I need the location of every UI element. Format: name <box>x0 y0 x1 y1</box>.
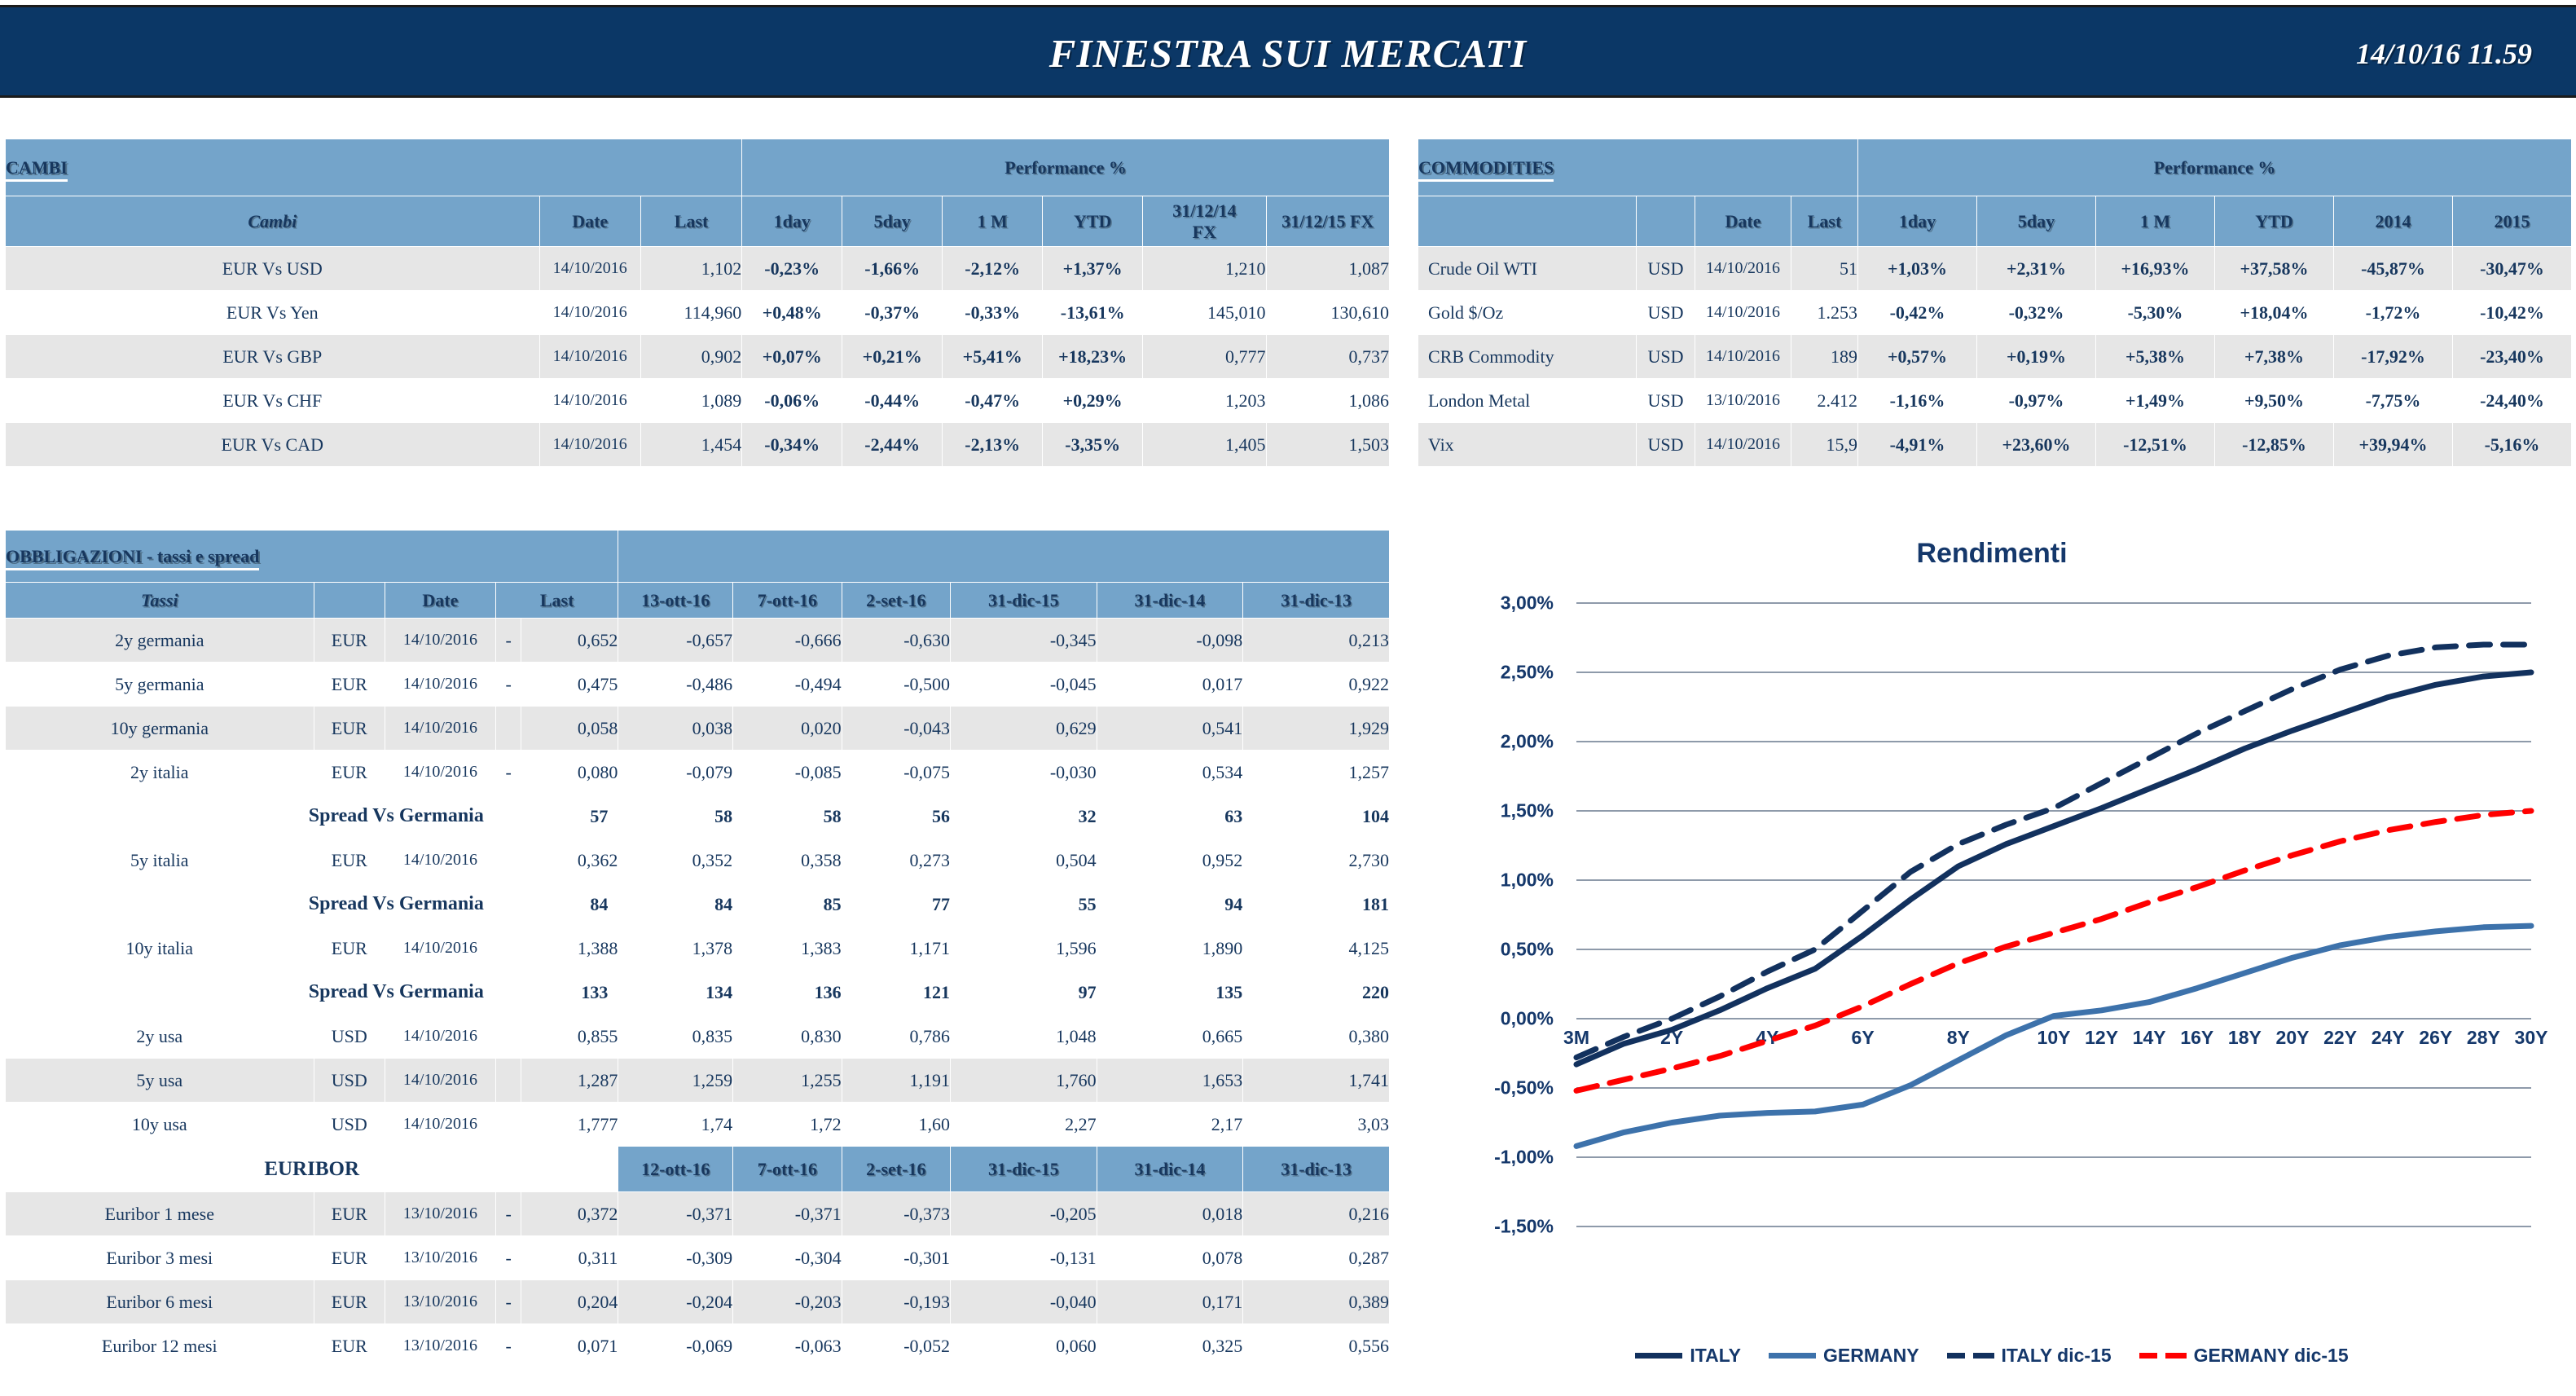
spread-cell-c3: 56 <box>842 795 950 839</box>
commodities-cell-ytd: +18,04% <box>2215 291 2334 335</box>
legend-label: GERMANY <box>1823 1345 1919 1367</box>
obbligazioni-cell-c5: 0,017 <box>1097 663 1243 707</box>
cambi-cell-1m: -0,33% <box>943 291 1043 335</box>
commodities-cell-1m: -5,30% <box>2096 291 2215 335</box>
obbligazioni-cell-c1: 1,378 <box>618 927 733 971</box>
commodities-cell-ytd: +9,50% <box>2215 379 2334 423</box>
obbligazioni-cell-ccy: EUR <box>314 839 385 883</box>
cambi-cell-date: 14/10/2016 <box>539 379 640 423</box>
cambi-cell-date: 14/10/2016 <box>539 291 640 335</box>
table-row: CRB CommodityUSD14/10/2016189+0,57%+0,19… <box>1418 335 2572 379</box>
obbligazioni-cell-last: 0,855 <box>521 1015 618 1059</box>
commodities-cell-1day: -4,91% <box>1858 423 1977 467</box>
table-row: Euribor 6 mesiEUR13/10/2016-0,204-0,204-… <box>6 1280 1390 1324</box>
commodities-cell-last: 189 <box>1791 335 1858 379</box>
obbligazioni-col-c3: 2-set-16 <box>842 583 950 619</box>
cambi-cell-5day: -0,37% <box>842 291 943 335</box>
obbligazioni-cell-c3: 1,60 <box>842 1103 950 1147</box>
euribor-cell-ccy: EUR <box>314 1236 385 1280</box>
cambi-cell-1day: -0,34% <box>742 423 842 467</box>
cambi-cell-1day: +0,07% <box>742 335 842 379</box>
table-row: London MetalUSD13/10/20162.412-1,16%-0,9… <box>1418 379 2572 423</box>
commodities-cell-2015: -30,47% <box>2453 247 2572 291</box>
spread-cell-last: 84 <box>495 883 618 927</box>
euribor-col-c1: 12-ott-16 <box>618 1147 733 1192</box>
commodities-row-name: Vix <box>1418 423 1637 467</box>
cambi-cell-1day: -0,06% <box>742 379 842 423</box>
chart-plot-area <box>1413 522 2570 1389</box>
obbligazioni-cell-c5: 0,541 <box>1097 707 1243 751</box>
obbligazioni-cell-c2: -0,494 <box>733 663 842 707</box>
obbligazioni-cell-c3: 1,191 <box>842 1059 950 1103</box>
legend-label: ITALY dic-15 <box>2002 1345 2112 1367</box>
obbligazioni-cell-date: 14/10/2016 <box>385 619 495 663</box>
obbligazioni-cell-c6: 0,213 <box>1243 619 1390 663</box>
commodities-title: COMMODITIES <box>1418 139 1858 196</box>
obbligazioni-row-name: 5y usa <box>6 1059 314 1103</box>
commodities-cell-1m: +5,38% <box>2096 335 2215 379</box>
obbligazioni-cell-last: 1,287 <box>521 1059 618 1103</box>
cambi-cell-1m: +5,41% <box>943 335 1043 379</box>
commodities-cell-5day: -0,97% <box>1977 379 2096 423</box>
series-germany-dic-15 <box>1576 811 2531 1090</box>
table-row: Euribor 1 meseEUR13/10/2016-0,372-0,371-… <box>6 1192 1390 1236</box>
cambi-cell-last: 1,089 <box>640 379 741 423</box>
cambi-cell-last: 0,902 <box>640 335 741 379</box>
obbligazioni-cell-c1: -0,079 <box>618 751 733 795</box>
cambi-row-name: EUR Vs CAD <box>6 423 540 467</box>
table-row: EUR Vs Yen14/10/2016114,960+0,48%-0,37%-… <box>6 291 1390 335</box>
euribor-cell-ccy: EUR <box>314 1192 385 1236</box>
euribor-cell-c1: -0,069 <box>618 1324 733 1368</box>
obbligazioni-cell-c6: 0,922 <box>1243 663 1390 707</box>
commodities-cell-2015: -10,42% <box>2453 291 2572 335</box>
euribor-cell-c5: 0,171 <box>1097 1280 1243 1324</box>
obbligazioni-cell-c4: 1,760 <box>951 1059 1097 1103</box>
obbligazioni-cell-c6: 1,741 <box>1243 1059 1390 1103</box>
euribor-cell-c1: -0,371 <box>618 1192 733 1236</box>
cambi-table: CAMBIPerformance %CambiDateLast1day5day1… <box>5 139 1390 467</box>
table-row: VixUSD14/10/201615,9-4,91%+23,60%-12,51%… <box>1418 423 2572 467</box>
table-row: Spread Vs Germania13313413612197135220 <box>6 971 1390 1015</box>
commodities-cell-2014: -17,92% <box>2334 335 2453 379</box>
obbligazioni-cell-c2: 0,358 <box>733 839 842 883</box>
obbligazioni-cell-c6: 1,257 <box>1243 751 1390 795</box>
spread-cell-last: 133 <box>495 971 618 1015</box>
commodities-col-2014: 2014 <box>2334 196 2453 247</box>
obbligazioni-cell-c5: -0,098 <box>1097 619 1243 663</box>
obbligazioni-cell-date: 14/10/2016 <box>385 839 495 883</box>
cambi-col-fx14: 31/12/14FX <box>1143 196 1266 247</box>
cambi-cell-1m: -2,12% <box>943 247 1043 291</box>
commodities-cell-last: 2.412 <box>1791 379 1858 423</box>
obbligazioni-col-c5: 31-dic-14 <box>1097 583 1243 619</box>
spread-cell-c5: 94 <box>1097 883 1243 927</box>
obbligazioni-cell-last: 0,058 <box>521 707 618 751</box>
euribor-cell-last: 0,372 <box>521 1192 618 1236</box>
commodities-cell-ytd: +7,38% <box>2215 335 2334 379</box>
cambi-col-1day: 1day <box>742 196 842 247</box>
table-row: EUR Vs USD14/10/20161,102-0,23%-1,66%-2,… <box>6 247 1390 291</box>
obbligazioni-cell-c4: 1,596 <box>951 927 1097 971</box>
obbligazioni-row-name: 2y germania <box>6 619 314 663</box>
obbligazioni-col-tassi: Tassi <box>6 583 314 619</box>
series-italy <box>1576 672 2531 1064</box>
cambi-col-last: Last <box>640 196 741 247</box>
legend-item: ITALY dic-15 <box>1947 1345 2112 1367</box>
obbligazioni-cell-date: 14/10/2016 <box>385 1015 495 1059</box>
euribor-col-c6: 31-dic-13 <box>1243 1147 1390 1192</box>
table-row: Euribor 12 mesiEUR13/10/2016-0,071-0,069… <box>6 1324 1390 1368</box>
commodities-col-date: Date <box>1695 196 1791 247</box>
commodities-col-1day: 1day <box>1858 196 1977 247</box>
commodities-cell-1m: -12,51% <box>2096 423 2215 467</box>
commodities-col-name <box>1418 196 1637 247</box>
obbligazioni-cell-c2: 1,255 <box>733 1059 842 1103</box>
obbligazioni-cell-c4: 0,629 <box>951 707 1097 751</box>
euribor-cell-c1: -0,204 <box>618 1280 733 1324</box>
spread-cell-c2: 136 <box>733 971 842 1015</box>
obbligazioni-cell-c5: 0,534 <box>1097 751 1243 795</box>
legend-item: GERMANY dic-15 <box>2139 1345 2349 1367</box>
obbligazioni-cell-c6: 2,730 <box>1243 839 1390 883</box>
obbligazioni-col-c1: 13-ott-16 <box>618 583 733 619</box>
commodities-cell-5day: +23,60% <box>1977 423 2096 467</box>
euribor-cell-c5: 0,018 <box>1097 1192 1243 1236</box>
commodities-row-name: Crude Oil WTI <box>1418 247 1637 291</box>
obbligazioni-cell-c3: 1,171 <box>842 927 950 971</box>
legend-swatch-icon <box>2139 1353 2187 1359</box>
commodities-cell-date: 14/10/2016 <box>1695 291 1791 335</box>
obbligazioni-cell-c5: 0,952 <box>1097 839 1243 883</box>
cambi-row-name: EUR Vs USD <box>6 247 540 291</box>
euribor-cell-c3: -0,373 <box>842 1192 950 1236</box>
cambi-cell-fx14: 145,010 <box>1143 291 1266 335</box>
cambi-cell-fx15: 1,086 <box>1266 379 1389 423</box>
cambi-cell-ytd: +0,29% <box>1043 379 1143 423</box>
commodities-cell-2014: -7,75% <box>2334 379 2453 423</box>
euribor-cell-c2: -0,304 <box>733 1236 842 1280</box>
euribor-cell-date: 13/10/2016 <box>385 1236 495 1280</box>
obbligazioni-col-ccy <box>314 583 385 619</box>
obbligazioni-cell-ccy: EUR <box>314 707 385 751</box>
obbligazioni-cell-c1: 0,352 <box>618 839 733 883</box>
commodities-col-5day: 5day <box>1977 196 2096 247</box>
obbligazioni-cell-date: 14/10/2016 <box>385 1103 495 1147</box>
euribor-cell-c6: 0,216 <box>1243 1192 1390 1236</box>
obbligazioni-cell-last: 1,777 <box>521 1103 618 1147</box>
cambi-performance-header: Performance % <box>742 139 1390 196</box>
obbligazioni-col-date: Date <box>385 583 495 619</box>
commodities-cell-last: 15,9 <box>1791 423 1858 467</box>
legend-item: GERMANY <box>1769 1345 1919 1367</box>
spread-cell-c6: 220 <box>1243 971 1390 1015</box>
commodities-cell-ccy: USD <box>1637 379 1695 423</box>
obbligazioni-cell-c6: 1,929 <box>1243 707 1390 751</box>
commodities-cell-1day: -1,16% <box>1858 379 1977 423</box>
cambi-cell-5day: -2,44% <box>842 423 943 467</box>
cambi-col-name: Cambi <box>6 196 540 247</box>
cambi-col-1m: 1 M <box>943 196 1043 247</box>
cambi-cell-ytd: -13,61% <box>1043 291 1143 335</box>
commodities-cell-1day: +0,57% <box>1858 335 1977 379</box>
obbligazioni-cell-c3: 0,273 <box>842 839 950 883</box>
obbligazioni-title: OBBLIGAZIONI - tassi e spread <box>6 531 618 583</box>
cambi-cell-ytd: +18,23% <box>1043 335 1143 379</box>
header-timestamp: 14/10/16 11.59 <box>2356 7 2532 100</box>
obbligazioni-cell-c4: 2,27 <box>951 1103 1097 1147</box>
cambi-cell-1day: -0,23% <box>742 247 842 291</box>
cambi-col-fx15: 31/12/15 FX <box>1266 196 1389 247</box>
commodities-cell-5day: -0,32% <box>1977 291 2096 335</box>
obbligazioni-cell-c5: 2,17 <box>1097 1103 1243 1147</box>
euribor-cell-c3: -0,193 <box>842 1280 950 1324</box>
obbligazioni-col-c6: 31-dic-13 <box>1243 583 1390 619</box>
commodities-cell-2014: +39,94% <box>2334 423 2453 467</box>
euribor-cell-c4: -0,040 <box>951 1280 1097 1324</box>
cambi-cell-fx14: 1,210 <box>1143 247 1266 291</box>
obbligazioni-cell-date: 14/10/2016 <box>385 751 495 795</box>
euribor-cell-ccy: EUR <box>314 1280 385 1324</box>
cambi-row-name: EUR Vs Yen <box>6 291 540 335</box>
commodities-cell-ytd: +37,58% <box>2215 247 2334 291</box>
euribor-col-c3: 2-set-16 <box>842 1147 950 1192</box>
obbligazioni-cell-c3: -0,630 <box>842 619 950 663</box>
spread-cell-c3: 77 <box>842 883 950 927</box>
obbligazioni-cell-sign: - <box>495 751 521 795</box>
obbligazioni-cell-c2: 1,383 <box>733 927 842 971</box>
euribor-title: EURIBOR <box>6 1147 618 1192</box>
cambi-cell-1m: -2,13% <box>943 423 1043 467</box>
cambi-cell-date: 14/10/2016 <box>539 423 640 467</box>
euribor-cell-date: 13/10/2016 <box>385 1280 495 1324</box>
commodities-col-last: Last <box>1791 196 1858 247</box>
obbligazioni-cell-sign: - <box>495 663 521 707</box>
commodities-cell-ccy: USD <box>1637 291 1695 335</box>
obbligazioni-cell-c4: -0,030 <box>951 751 1097 795</box>
commodities-cell-date: 14/10/2016 <box>1695 335 1791 379</box>
euribor-cell-last: 0,071 <box>521 1324 618 1368</box>
euribor-cell-c6: 0,287 <box>1243 1236 1390 1280</box>
obbligazioni-row-name: 5y germania <box>6 663 314 707</box>
obbligazioni-cell-c6: 3,03 <box>1243 1103 1390 1147</box>
obbligazioni-cell-c3: -0,075 <box>842 751 950 795</box>
commodities-cell-ccy: USD <box>1637 247 1695 291</box>
table-row: Euribor 3 mesiEUR13/10/2016-0,311-0,309-… <box>6 1236 1390 1280</box>
table-row: EUR Vs CAD14/10/20161,454-0,34%-2,44%-2,… <box>6 423 1390 467</box>
commodities-cell-date: 14/10/2016 <box>1695 423 1791 467</box>
legend-swatch-icon <box>1947 1353 1994 1359</box>
obbligazioni-cell-sign <box>495 839 521 883</box>
obbligazioni-cell-last: 0,475 <box>521 663 618 707</box>
obbligazioni-row-name: 2y usa <box>6 1015 314 1059</box>
cambi-cell-fx15: 1,503 <box>1266 423 1389 467</box>
obbligazioni-cell-last: 1,388 <box>521 927 618 971</box>
table-row: 2y germaniaEUR14/10/2016-0,652-0,657-0,6… <box>6 619 1390 663</box>
cambi-cell-5day: +0,21% <box>842 335 943 379</box>
obbligazioni-cell-c2: -0,085 <box>733 751 842 795</box>
euribor-col-c2: 7-ott-16 <box>733 1147 842 1192</box>
obbligazioni-col-last: Last <box>495 583 618 619</box>
commodities-cell-last: 1.253 <box>1791 291 1858 335</box>
legend-label: GERMANY dic-15 <box>2194 1345 2349 1367</box>
obbligazioni-cell-c1: 0,835 <box>618 1015 733 1059</box>
obbligazioni-cell-c2: 0,830 <box>733 1015 842 1059</box>
cambi-cell-fx14: 1,405 <box>1143 423 1266 467</box>
euribor-cell-c2: -0,063 <box>733 1324 842 1368</box>
obbligazioni-row-name: 10y usa <box>6 1103 314 1147</box>
obbligazioni-cell-date: 14/10/2016 <box>385 927 495 971</box>
obbligazioni-col-c4: 31-dic-15 <box>951 583 1097 619</box>
table-row: 5y usaUSD14/10/20161,2871,2591,2551,1911… <box>6 1059 1390 1103</box>
obbligazioni-table: OBBLIGAZIONI - tassi e spreadTassiDateLa… <box>5 530 1390 1368</box>
cambi-cell-fx15: 130,610 <box>1266 291 1389 335</box>
obbligazioni-cell-c2: -0,666 <box>733 619 842 663</box>
cambi-row-name: EUR Vs GBP <box>6 335 540 379</box>
obbligazioni-cell-c3: -0,500 <box>842 663 950 707</box>
spread-cell-c1: 134 <box>618 971 733 1015</box>
commodities-cell-1day: +1,03% <box>1858 247 1977 291</box>
commodities-table: COMMODITIESPerformance %DateLast1day5day… <box>1418 139 2572 467</box>
table-row: 5y italiaEUR14/10/20160,3620,3520,3580,2… <box>6 839 1390 883</box>
euribor-cell-c3: -0,052 <box>842 1324 950 1368</box>
obbligazioni-row-name: 2y italia <box>6 751 314 795</box>
spread-row-label: Spread Vs Germania <box>6 795 496 839</box>
obbligazioni-cell-ccy: USD <box>314 1103 385 1147</box>
cambi-cell-date: 14/10/2016 <box>539 335 640 379</box>
obbligazioni-cell-sign: - <box>495 619 521 663</box>
obbligazioni-cell-c1: 1,74 <box>618 1103 733 1147</box>
cambi-title: CAMBI <box>6 139 742 196</box>
euribor-cell-date: 13/10/2016 <box>385 1324 495 1368</box>
euribor-row-name: Euribor 3 mesi <box>6 1236 314 1280</box>
obbligazioni-cell-date: 14/10/2016 <box>385 663 495 707</box>
obbligazioni-cell-c6: 0,380 <box>1243 1015 1390 1059</box>
rendimenti-chart: Rendimenti 3,00%2,50%2,00%1,50%1,00%0,50… <box>1413 522 2570 1389</box>
obbligazioni-cell-c1: -0,486 <box>618 663 733 707</box>
obbligazioni-title-filler <box>618 531 1390 583</box>
cambi-cell-1day: +0,48% <box>742 291 842 335</box>
cambi-cell-fx15: 0,737 <box>1266 335 1389 379</box>
euribor-cell-c4: -0,205 <box>951 1192 1097 1236</box>
euribor-cell-sign: - <box>495 1324 521 1368</box>
obbligazioni-col-c2: 7-ott-16 <box>733 583 842 619</box>
commodities-cell-5day: +0,19% <box>1977 335 2096 379</box>
obbligazioni-cell-sign <box>495 707 521 751</box>
obbligazioni-cell-date: 14/10/2016 <box>385 1059 495 1103</box>
cambi-cell-fx14: 0,777 <box>1143 335 1266 379</box>
obbligazioni-cell-date: 14/10/2016 <box>385 707 495 751</box>
commodities-col-1m: 1 M <box>2096 196 2215 247</box>
spread-cell-c4: 55 <box>951 883 1097 927</box>
euribor-row-name: Euribor 12 mesi <box>6 1324 314 1368</box>
spread-cell-c2: 58 <box>733 795 842 839</box>
cambi-cell-last: 1,454 <box>640 423 741 467</box>
commodities-cell-1m: +1,49% <box>2096 379 2215 423</box>
obbligazioni-cell-sign <box>495 1059 521 1103</box>
spread-cell-c5: 135 <box>1097 971 1243 1015</box>
commodities-cell-ccy: USD <box>1637 335 1695 379</box>
obbligazioni-cell-c5: 1,890 <box>1097 927 1243 971</box>
commodities-col-ytd: YTD <box>2215 196 2334 247</box>
euribor-row-name: Euribor 6 mesi <box>6 1280 314 1324</box>
spread-cell-c2: 85 <box>733 883 842 927</box>
euribor-cell-c4: 0,060 <box>951 1324 1097 1368</box>
obbligazioni-cell-c2: 0,020 <box>733 707 842 751</box>
spread-cell-c4: 32 <box>951 795 1097 839</box>
spread-row-label: Spread Vs Germania <box>6 883 496 927</box>
obbligazioni-cell-c6: 4,125 <box>1243 927 1390 971</box>
obbligazioni-cell-c5: 1,653 <box>1097 1059 1243 1103</box>
euribor-cell-ccy: EUR <box>314 1324 385 1368</box>
obbligazioni-cell-sign <box>495 1015 521 1059</box>
euribor-cell-last: 0,204 <box>521 1280 618 1324</box>
cambi-cell-fx14: 1,203 <box>1143 379 1266 423</box>
cambi-cell-5day: -1,66% <box>842 247 943 291</box>
commodities-cell-2014: -45,87% <box>2334 247 2453 291</box>
obbligazioni-cell-last: 0,652 <box>521 619 618 663</box>
euribor-col-c4: 31-dic-15 <box>951 1147 1097 1192</box>
commodities-cell-1day: -0,42% <box>1858 291 1977 335</box>
commodities-cell-5day: +2,31% <box>1977 247 2096 291</box>
obbligazioni-cell-last: 0,362 <box>521 839 618 883</box>
spread-cell-c6: 181 <box>1243 883 1390 927</box>
series-italy-dic-15 <box>1576 645 2531 1058</box>
euribor-cell-c5: 0,078 <box>1097 1236 1243 1280</box>
spread-cell-c1: 84 <box>618 883 733 927</box>
legend-label: ITALY <box>1690 1345 1741 1367</box>
euribor-cell-c5: 0,325 <box>1097 1324 1243 1368</box>
spread-cell-c1: 58 <box>618 795 733 839</box>
cambi-row-name: EUR Vs CHF <box>6 379 540 423</box>
obbligazioni-cell-ccy: EUR <box>314 663 385 707</box>
legend-swatch-icon <box>1769 1353 1816 1359</box>
spread-cell-c4: 97 <box>951 971 1097 1015</box>
commodities-cell-2014: -1,72% <box>2334 291 2453 335</box>
euribor-row-name: Euribor 1 mese <box>6 1192 314 1236</box>
cambi-cell-last: 114,960 <box>640 291 741 335</box>
obbligazioni-row-name: 10y italia <box>6 927 314 971</box>
euribor-cell-c1: -0,309 <box>618 1236 733 1280</box>
obbligazioni-cell-c4: -0,045 <box>951 663 1097 707</box>
obbligazioni-cell-c3: -0,043 <box>842 707 950 751</box>
obbligazioni-cell-ccy: EUR <box>314 751 385 795</box>
commodities-col-2015: 2015 <box>2453 196 2572 247</box>
table-row: 2y italiaEUR14/10/2016-0,080-0,079-0,085… <box>6 751 1390 795</box>
euribor-cell-sign: - <box>495 1280 521 1324</box>
euribor-cell-c6: 0,556 <box>1243 1324 1390 1368</box>
euribor-cell-c2: -0,203 <box>733 1280 842 1324</box>
table-row: 10y italiaEUR14/10/20161,3881,3781,3831,… <box>6 927 1390 971</box>
table-row: Crude Oil WTIUSD14/10/201651+1,03%+2,31%… <box>1418 247 2572 291</box>
obbligazioni-cell-c3: 0,786 <box>842 1015 950 1059</box>
table-row: 10y germaniaEUR14/10/20160,0580,0380,020… <box>6 707 1390 751</box>
table-row: Spread Vs Germania575858563263104 <box>6 795 1390 839</box>
table-row: Gold $/OzUSD14/10/20161.253-0,42%-0,32%-… <box>1418 291 2572 335</box>
cambi-cell-fx15: 1,087 <box>1266 247 1389 291</box>
cambi-cell-date: 14/10/2016 <box>539 247 640 291</box>
spread-row-label: Spread Vs Germania <box>6 971 496 1015</box>
legend-item: ITALY <box>1635 1345 1741 1367</box>
euribor-col-c5: 31-dic-14 <box>1097 1147 1243 1192</box>
spread-cell-c3: 121 <box>842 971 950 1015</box>
commodities-cell-1m: +16,93% <box>2096 247 2215 291</box>
obbligazioni-cell-c4: 1,048 <box>951 1015 1097 1059</box>
cambi-cell-last: 1,102 <box>640 247 741 291</box>
commodities-cell-ytd: -12,85% <box>2215 423 2334 467</box>
legend-swatch-icon <box>1635 1353 1682 1359</box>
commodities-cell-2015: -5,16% <box>2453 423 2572 467</box>
